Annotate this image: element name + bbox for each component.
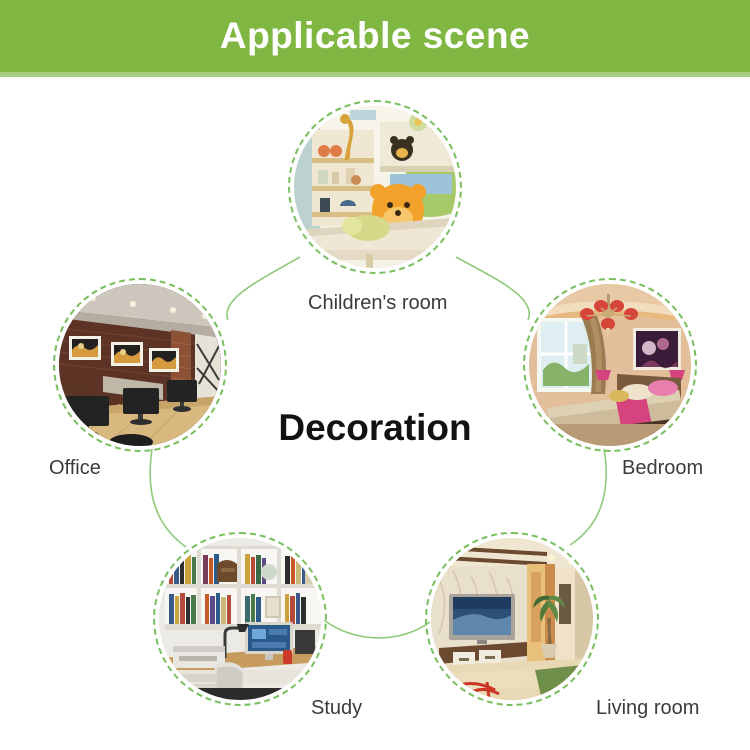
node-label-children-room: Children's room	[308, 292, 447, 315]
applicable-scene-infographic: Applicable scene	[0, 0, 750, 750]
node-living-room[interactable]	[425, 532, 599, 706]
center-hub-label: Decoration	[0, 407, 750, 449]
node-children-room[interactable]	[288, 100, 462, 274]
node-label-office: Office	[49, 457, 101, 480]
page-title: Applicable scene	[0, 0, 750, 72]
children-room-photo	[294, 106, 456, 268]
link-bedroom-children	[456, 257, 529, 320]
node-label-study: Study	[311, 697, 362, 720]
diagram-stage: Children's room	[0, 77, 750, 750]
node-study[interactable]	[153, 532, 327, 706]
node-label-living-room: Living room	[596, 697, 699, 720]
link-living-bedroom	[570, 449, 606, 545]
link-study-living	[324, 620, 430, 638]
node-label-bedroom: Bedroom	[622, 457, 703, 480]
living-room-photo	[431, 538, 593, 700]
study-photo	[159, 538, 321, 700]
